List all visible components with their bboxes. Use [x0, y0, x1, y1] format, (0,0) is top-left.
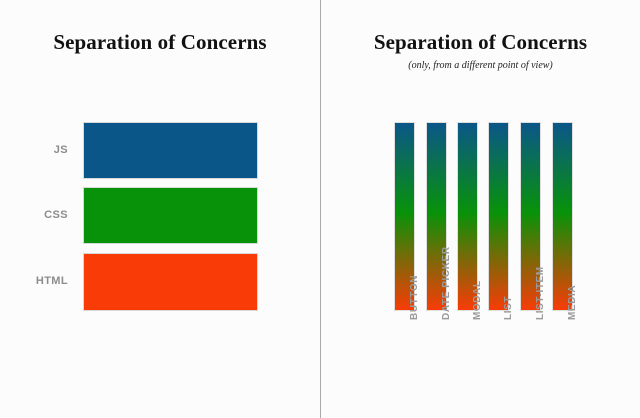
layer-bar-css	[83, 187, 258, 244]
layer-bar-row: CSS	[0, 187, 320, 244]
component-bar-label: BUTTON	[409, 275, 420, 320]
right-panel-title: Separation of Concerns	[321, 30, 640, 55]
component-bar-label: MEDIA	[567, 285, 578, 320]
comparison-figure: Separation of Concerns JSCSSHTML Separat…	[0, 0, 640, 418]
right-panel: Separation of Concerns (only, from a dif…	[321, 0, 640, 418]
component-bar-label: LIST-ITEM	[535, 266, 546, 320]
component-bar-label: DATE PICKER	[441, 246, 452, 320]
component-bar-list	[488, 122, 509, 311]
layer-bar-js	[83, 122, 258, 179]
component-bar-label: LIST	[503, 296, 514, 320]
layer-bar-label: HTML	[0, 275, 68, 287]
layer-bar-row: HTML	[0, 253, 320, 311]
left-panel: Separation of Concerns JSCSSHTML	[0, 0, 320, 418]
right-panel-subtitle: (only, from a different point of view)	[321, 60, 640, 71]
layer-bar-label: CSS	[0, 209, 68, 221]
component-bar-media	[552, 122, 573, 311]
layer-bar-label: JS	[0, 144, 68, 156]
component-bar-label: MODAL	[472, 280, 483, 320]
layer-bar-row: JS	[0, 122, 320, 179]
layer-bar-html	[83, 253, 258, 311]
left-panel-title: Separation of Concerns	[0, 30, 320, 55]
